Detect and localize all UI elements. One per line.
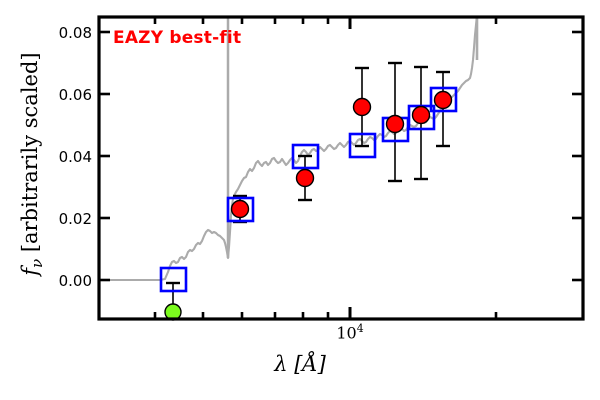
x-axis-label-unit: [Å] [294,352,326,376]
ytick-label-3: 0.02 [30,210,92,228]
observed-point-7 [435,92,452,109]
xtick-mantissa: 10 [336,323,356,342]
xtick-label-major: 104 [310,322,390,342]
x-axis-label-lambda: λ [274,352,287,376]
x-axis-label: λ [Å] [0,352,600,376]
figure-sed-plot: 0.08 0.06 0.04 0.02 0.00 104 EAZY best-f… [0,0,600,400]
ytick-label-4: 0.00 [30,272,92,290]
observed-point-3 [297,170,314,187]
observed-point-5 [387,116,404,133]
xtick-exponent: 4 [357,322,364,335]
annotation-eazy-best-fit: EAZY best-fit [113,28,241,48]
observed-point-6 [413,107,430,124]
plot-canvas [0,0,600,400]
observed-point-4 [354,99,371,116]
ytick-label-0: 0.08 [30,24,92,42]
ytick-label-1: 0.06 [30,86,92,104]
observed-point-2 [232,201,249,218]
ytick-label-2: 0.04 [30,148,92,166]
